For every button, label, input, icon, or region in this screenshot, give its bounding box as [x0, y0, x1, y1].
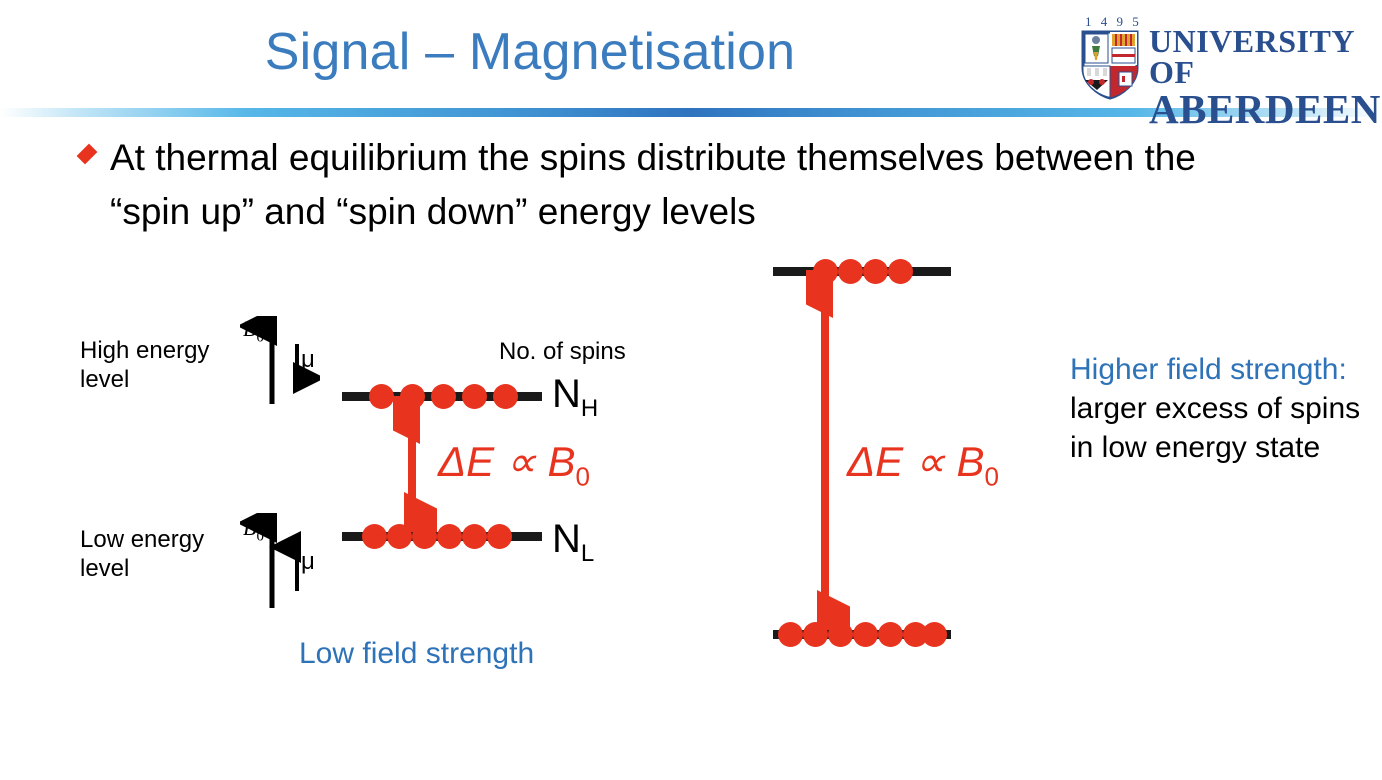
- spin-dot: [922, 622, 947, 647]
- high-level-population-label: NH: [552, 372, 598, 423]
- low-level-population-label: NL: [552, 517, 594, 568]
- spin-dot: [493, 384, 518, 409]
- logo-year-label: 1 4 9 5: [1085, 14, 1142, 30]
- spin-dot: [487, 524, 512, 549]
- spin-dot: [853, 622, 878, 647]
- spin-dot: [462, 384, 487, 409]
- spin-dot: [369, 384, 394, 409]
- low-field-strength-caption: Low field strength: [299, 637, 534, 671]
- no-of-spins-caption: No. of spins: [499, 338, 626, 366]
- spin-dot: [778, 622, 803, 647]
- logo-line-2: ABERDEEN: [1149, 89, 1379, 129]
- bullet-text: At thermal equilibrium the spins distrib…: [110, 131, 1200, 238]
- logo-line-1: UNIVERSITY OF: [1149, 26, 1379, 89]
- high-level-b0-label: B0: [243, 316, 264, 346]
- spin-dot: [462, 524, 487, 549]
- university-logo: 1 4 9 5 UNIVERSITY OF ABERDEEN: [1063, 14, 1373, 102]
- high-field-energy-gap-arrow: [806, 270, 850, 638]
- logo-wordmark: UNIVERSITY OF ABERDEEN: [1149, 26, 1379, 129]
- spin-dot: [888, 259, 913, 284]
- low-field-energy-gap-arrow: [393, 396, 437, 541]
- spin-dot: [362, 524, 387, 549]
- high-energy-level-label: High energy level: [80, 336, 230, 395]
- high-level-mu-label: μ: [301, 346, 315, 374]
- low-level-b0-label: B0: [243, 515, 264, 545]
- bullet-paragraph: At thermal equilibrium the spins distrib…: [80, 131, 1200, 238]
- high-field-heading: Higher field strength:: [1070, 353, 1347, 386]
- spin-dot: [878, 622, 903, 647]
- shield-icon: [1081, 30, 1139, 100]
- spin-dot: [863, 259, 888, 284]
- low-field-energy-formula: ΔE ∝ B0: [438, 437, 590, 492]
- high-field-energy-formula: ΔE ∝ B0: [847, 437, 999, 492]
- spin-dot: [803, 622, 828, 647]
- page-title: Signal – Magnetisation: [0, 22, 1060, 82]
- diamond-bullet-icon: [77, 144, 98, 165]
- high-field-body: larger excess of spins in low energy sta…: [1070, 392, 1360, 464]
- spin-dot: [387, 524, 412, 549]
- spin-dot: [437, 524, 462, 549]
- low-energy-level-label: Low energy level: [80, 525, 230, 584]
- low-level-mu-label: μ: [301, 548, 315, 576]
- spin-dot: [828, 622, 853, 647]
- slide-canvas: Signal – Magnetisation 1 4 9 5 U: [0, 0, 1382, 780]
- high-field-description: Higher field strength: larger excess of …: [1070, 350, 1370, 467]
- spin-dot: [412, 524, 437, 549]
